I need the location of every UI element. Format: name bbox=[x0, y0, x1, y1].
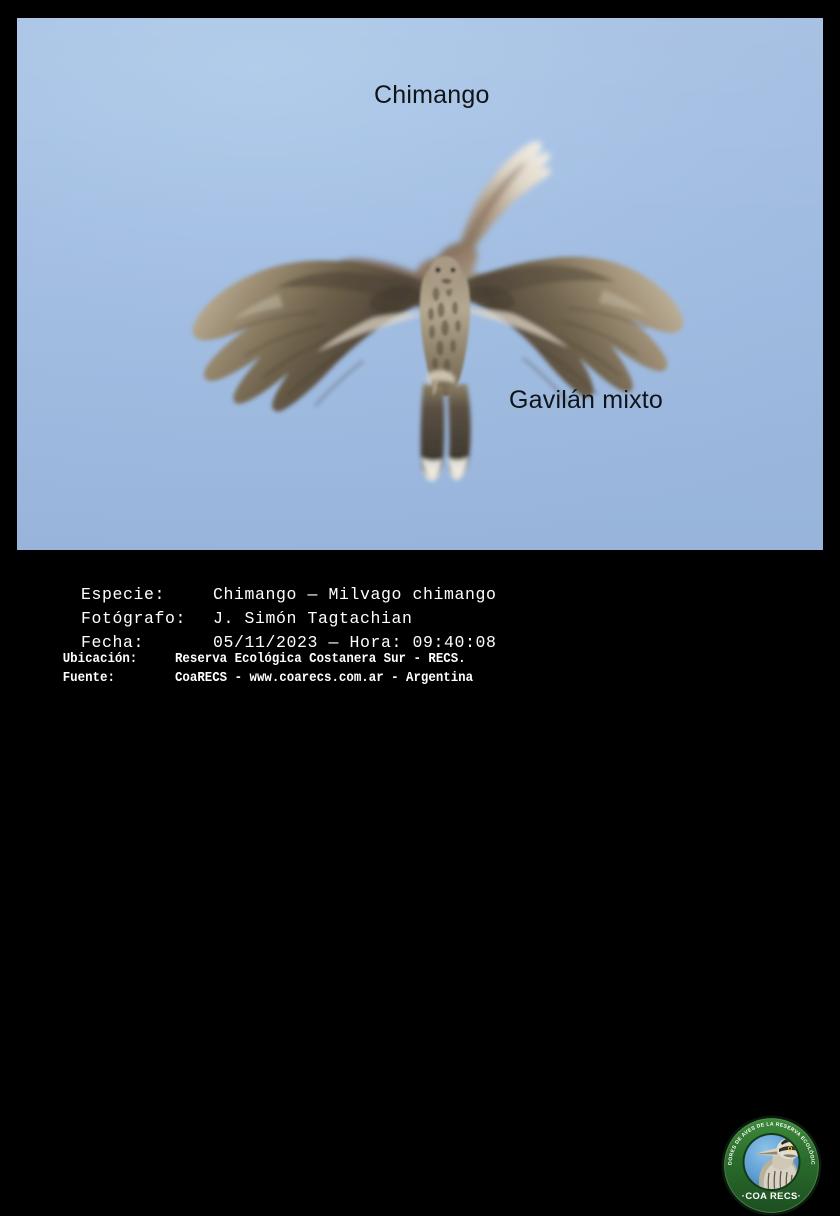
gavilan-bird bbox=[192, 256, 683, 481]
coa-recs-logo[interactable]: CLUB DE OBSERVADORES DE AVES DE LA RESER… bbox=[721, 1115, 822, 1216]
photo-label-gavilan: Gavilán mixto bbox=[509, 386, 663, 415]
caption-panel: Especie:Chimango — Milvago chimango Fotó… bbox=[0, 552, 840, 669]
logo-bottom-text: ·COA RECS· bbox=[742, 1190, 801, 1201]
caption-row-fuente: Fuente:CoaRECS - www.coarecs.com.ar - Ar… bbox=[18, 656, 473, 701]
screenshot-root: Chimango Gavilán mixto Especie:Chimango … bbox=[0, 0, 840, 669]
photo-label-chimango: Chimango bbox=[374, 81, 490, 110]
photograph: Chimango Gavilán mixto bbox=[17, 18, 823, 550]
fuente-value: CoaRECS - www.coarecs.com.ar - Argentina bbox=[175, 671, 473, 686]
fuente-label: Fuente: bbox=[63, 671, 175, 686]
